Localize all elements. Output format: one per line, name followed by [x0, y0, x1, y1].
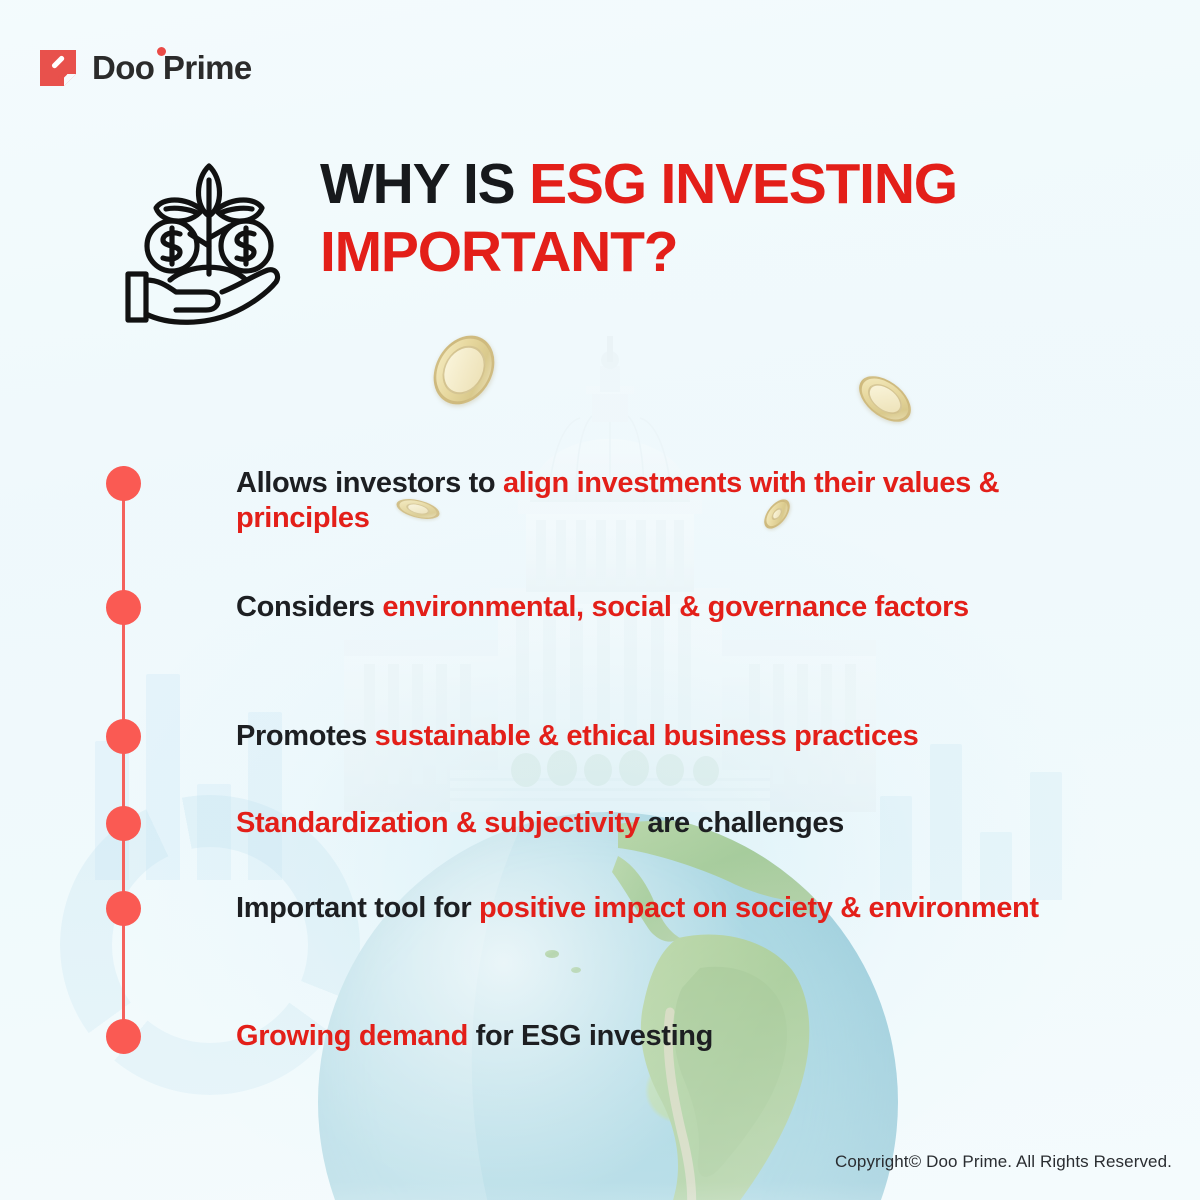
bullet-text: Allows investors to align investments wi… [236, 466, 1066, 537]
brand-wordmark: Doo Prime [92, 49, 252, 87]
bullet-text-plain: Promotes [236, 720, 375, 752]
bullet-text-plain: Considers [236, 591, 382, 623]
hand-holding-plant-with-coins-icon [110, 154, 290, 329]
page-title: WHY IS ESG INVESTING IMPORTANT? [320, 150, 980, 287]
bullet-text: Important tool for positive impact on so… [236, 891, 1066, 926]
doo-prime-flag-mark-icon [38, 48, 78, 88]
bullet-text-highlight: Standardization & subjectivity [236, 807, 640, 839]
bullet-dot-icon [106, 719, 141, 754]
bullet-text: Considers environmental, social & govern… [236, 590, 1066, 625]
bullet-text-highlight: positive impact on society & environment [479, 892, 1039, 924]
bullet-text: Promotes sustainable & ethical business … [236, 719, 1066, 754]
bullet-dot-icon [106, 466, 141, 501]
bullet-dot-icon [106, 1019, 141, 1054]
bullet-text: Growing demand for ESG investing [236, 1019, 1066, 1054]
title-plain: WHY IS [320, 152, 529, 216]
bullet-text-plain: are challenges [640, 807, 844, 839]
bullet-text-highlight: Growing demand [236, 1020, 468, 1052]
bullet-text-plain: for ESG investing [468, 1020, 713, 1052]
logo-accent-dot-icon [157, 47, 166, 56]
brand-logo[interactable]: Doo Prime [38, 48, 252, 88]
copyright-footer: Copyright© Doo Prime. All Rights Reserve… [835, 1152, 1172, 1172]
bullet-text-highlight: sustainable & ethical business practices [375, 720, 919, 752]
bullet-text-highlight: environmental, social & governance facto… [382, 591, 968, 623]
bullet-dot-icon [106, 891, 141, 926]
timeline-connector [122, 466, 125, 1052]
bullet-dot-icon [106, 590, 141, 625]
header-block: WHY IS ESG INVESTING IMPORTANT? [110, 150, 1110, 329]
infographic-poster: Doo Prime [0, 0, 1200, 1200]
bullet-text-plain: Allows investors to [236, 467, 503, 499]
bullet-text-plain: Important tool for [236, 892, 479, 924]
bullet-text: Standardization & subjectivity are chall… [236, 806, 1066, 841]
bullet-dot-icon [106, 806, 141, 841]
